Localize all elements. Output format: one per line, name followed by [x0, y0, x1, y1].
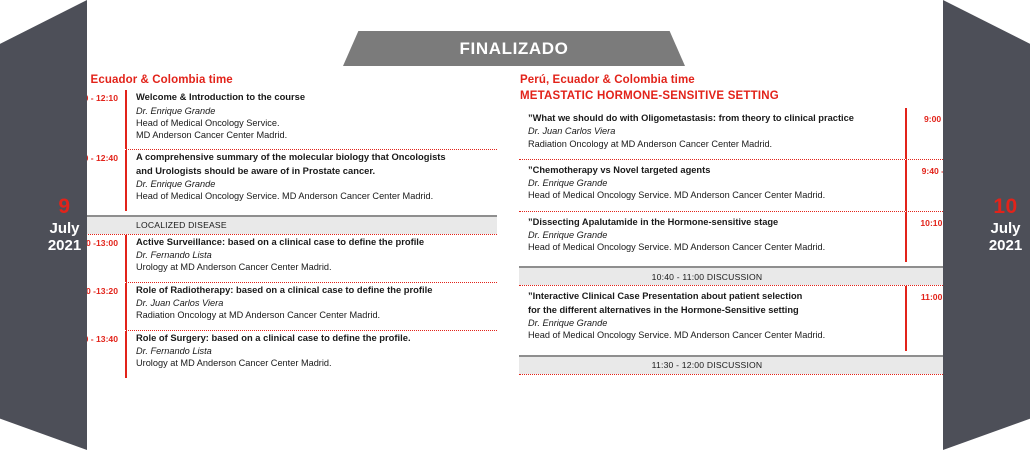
agenda-row-affiliation: MD Anderson Cancer Center Madrid.: [136, 129, 497, 141]
row-separator: [519, 374, 983, 375]
date-panel-left-text: 9 July 2021: [0, 195, 127, 255]
date-panel-right: 10 July 2021: [943, 0, 1030, 450]
agenda-row-title: and Urologists should be aware of in Pro…: [136, 165, 497, 178]
agenda-row[interactable]: ”Interactive Clinical Case Presentation …: [519, 286, 983, 350]
agenda-row-body: ”What we should do with Oligometastasis:…: [519, 108, 905, 159]
date-left-day: 9: [2, 195, 127, 220]
agenda-row[interactable]: ”Chemotherapy vs Novel targeted agents D…: [519, 160, 983, 211]
timezone-heading-right: Perú, Ecuador & Colombia time: [519, 74, 983, 86]
agenda-row-body: Welcome & Introduction to the course Dr.…: [127, 90, 497, 149]
date-panel-left: 9 July 2021: [0, 0, 87, 450]
section-heading-metastatic: METASTATIC HORMONE-SENSITIVE SETTING: [520, 90, 983, 102]
agenda-row[interactable]: 12:00 - 12:10 Welcome & Introduction to …: [57, 90, 497, 149]
date-right-month: July: [943, 220, 1030, 238]
agenda-row-body: A comprehensive summary of the molecular…: [127, 150, 497, 210]
agenda: Perú, Ecuador & Colombia time 12:00 - 12…: [0, 74, 1030, 450]
agenda-row-title: ”Interactive Clinical Case Presentation …: [528, 290, 895, 302]
agenda-row-speaker: Dr. Enrique Grande: [136, 105, 497, 117]
agenda-row-title: ”What we should do with Oligometastasis:…: [528, 112, 895, 124]
agenda-row-speaker: Dr. Enrique Grande: [528, 177, 895, 189]
date-right-day: 10: [943, 195, 1030, 220]
agenda-row-speaker: Dr. Juan Carlos Viera: [528, 125, 895, 137]
agenda-row-affiliation: Urology at MD Anderson Cancer Center Mad…: [136, 357, 497, 369]
agenda-row-body: Role of Surgery: based on a clinical cas…: [127, 331, 497, 378]
agenda-row-body: Active Surveillance: based on a clinical…: [127, 235, 497, 282]
agenda-row-affiliation: Head of Medical Oncology Service. MD And…: [528, 329, 895, 341]
status-badge-label: FINALIZADO: [460, 39, 569, 59]
agenda-row-body: Role of Radiotherapy: based on a clinica…: [127, 283, 497, 330]
agenda-row-affiliation: Head of Medical Oncology Service. MD And…: [136, 190, 497, 202]
agenda-row-affiliation: Urology at MD Anderson Cancer Center Mad…: [136, 261, 497, 273]
agenda-row-title: A comprehensive summary of the molecular…: [136, 151, 497, 164]
agenda-row-speaker: Dr. Fernando Lista: [136, 249, 497, 261]
agenda-row[interactable]: 13:20 - 13:40 Role of Surgery: based on …: [57, 331, 497, 378]
date-panel-right-text: 10 July 2021: [943, 195, 1030, 255]
agenda-row-title: Role of Radiotherapy: based on a clinica…: [136, 284, 497, 297]
agenda-row-affiliation: Head of Medical Oncology Service. MD And…: [528, 189, 895, 201]
agenda-row-speaker: Dr. Enrique Grande: [528, 317, 895, 329]
discussion-band-label: 11:30 - 12:00 DISCUSSION: [519, 360, 983, 370]
agenda-row[interactable]: ”What we should do with Oligometastasis:…: [519, 108, 983, 159]
date-left-month: July: [2, 220, 127, 238]
agenda-column-day-10: Perú, Ecuador & Colombia time METASTATIC…: [519, 74, 983, 375]
agenda-row[interactable]: ”Dissecting Apalutamide in the Hormone-s…: [519, 212, 983, 263]
agenda-row-title: for the different alternatives in the Ho…: [528, 304, 895, 316]
agenda-row[interactable]: 13:00 -13:20 Role of Radiotherapy: based…: [57, 283, 497, 330]
agenda-row-speaker: Dr. Juan Carlos Viera: [136, 297, 497, 309]
agenda-row-body: ”Chemotherapy vs Novel targeted agents D…: [519, 160, 905, 211]
date-right-year: 2021: [943, 237, 1030, 255]
timezone-heading-left: Perú, Ecuador & Colombia time: [57, 74, 497, 86]
discussion-band-label: 10:40 - 11:00 DISCUSSION: [519, 272, 983, 282]
agenda-row-speaker: Dr. Enrique Grande: [528, 229, 895, 241]
agenda-row-speaker: Dr. Enrique Grande: [136, 178, 497, 190]
agenda-row-title: ”Dissecting Apalutamide in the Hormone-s…: [528, 216, 895, 228]
agenda-row-title: Role of Surgery: based on a clinical cas…: [136, 332, 497, 345]
agenda-row-body: ”Interactive Clinical Case Presentation …: [519, 286, 905, 350]
agenda-row-affiliation: Radiation Oncology at MD Anderson Cancer…: [528, 138, 895, 150]
agenda-row-affiliation: Radiation Oncology at MD Anderson Cancer…: [136, 309, 497, 321]
agenda-row-affiliation: Head of Medical Oncology Service.: [136, 117, 497, 129]
status-badge: FINALIZADO: [343, 31, 685, 66]
discussion-band: 11:30 - 12:00 DISCUSSION: [519, 355, 983, 374]
agenda-row-title: Active Surveillance: based on a clinical…: [136, 236, 497, 249]
agenda-row-title: ”Chemotherapy vs Novel targeted agents: [528, 164, 895, 176]
date-left-year: 2021: [2, 237, 127, 255]
agenda-row-body: ”Dissecting Apalutamide in the Hormone-s…: [519, 212, 905, 263]
agenda-row-affiliation: Head of Medical Oncology Service. MD And…: [528, 241, 895, 253]
agenda-row-speaker: Dr. Fernando Lista: [136, 345, 497, 357]
discussion-band: 10:40 - 11:00 DISCUSSION: [519, 266, 983, 285]
agenda-row-title: Welcome & Introduction to the course: [136, 91, 497, 104]
